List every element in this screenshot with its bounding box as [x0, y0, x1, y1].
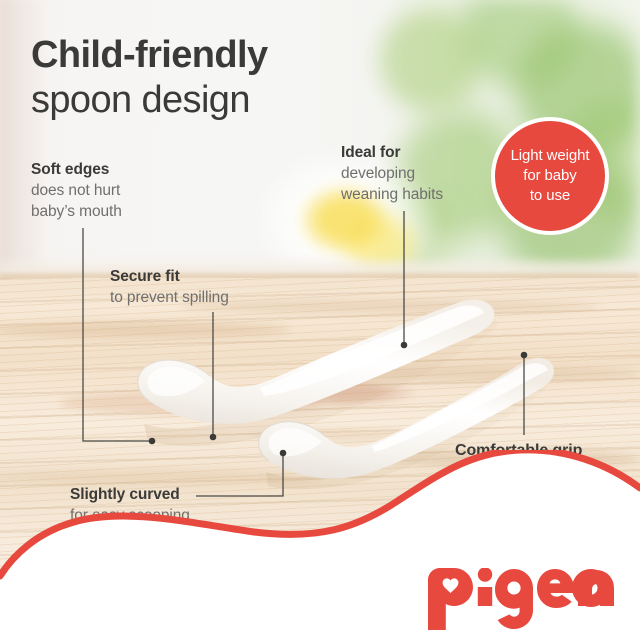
- brand-logo: [424, 568, 614, 630]
- callout-subline-1: to prevent spilling: [110, 287, 229, 308]
- callout-subline-2: baby’s mouth: [31, 201, 122, 222]
- callout-subline-1: developing: [341, 163, 443, 184]
- light-weight-badge: Light weight for baby to use: [491, 117, 609, 235]
- callout-subline-1: does not hurt: [31, 180, 122, 201]
- badge-text: Light weight for baby to use: [511, 146, 590, 206]
- callout-subline-2: weaning habits: [341, 184, 443, 205]
- logo-letter-e: [537, 569, 574, 608]
- callout-title: Soft edges: [31, 159, 122, 180]
- logo-letter-i: [478, 587, 492, 606]
- callout-soft-edges: Soft edges does not hurt baby’s mouth: [31, 159, 122, 222]
- page-title: Child-friendly spoon design: [31, 33, 451, 123]
- logo-letter-g: [495, 569, 533, 629]
- callout-ideal-for: Ideal for developing weaning habits: [341, 142, 443, 205]
- product-infographic: Child-friendly spoon design Soft edges d…: [0, 0, 640, 640]
- callout-secure-fit: Secure fit to prevent spilling: [110, 266, 229, 308]
- callout-title: Secure fit: [110, 266, 229, 287]
- badge-line-3: to use: [530, 187, 570, 204]
- badge-line-2: for baby: [523, 167, 576, 184]
- logo-letter-p: [428, 568, 473, 630]
- badge-line-1: Light weight: [511, 147, 590, 164]
- logo-letter-i-dot: [478, 568, 492, 582]
- headline-line-2: spoon design: [31, 78, 451, 123]
- callout-title: Ideal for: [341, 142, 443, 163]
- headline-line-1: Child-friendly: [31, 33, 451, 78]
